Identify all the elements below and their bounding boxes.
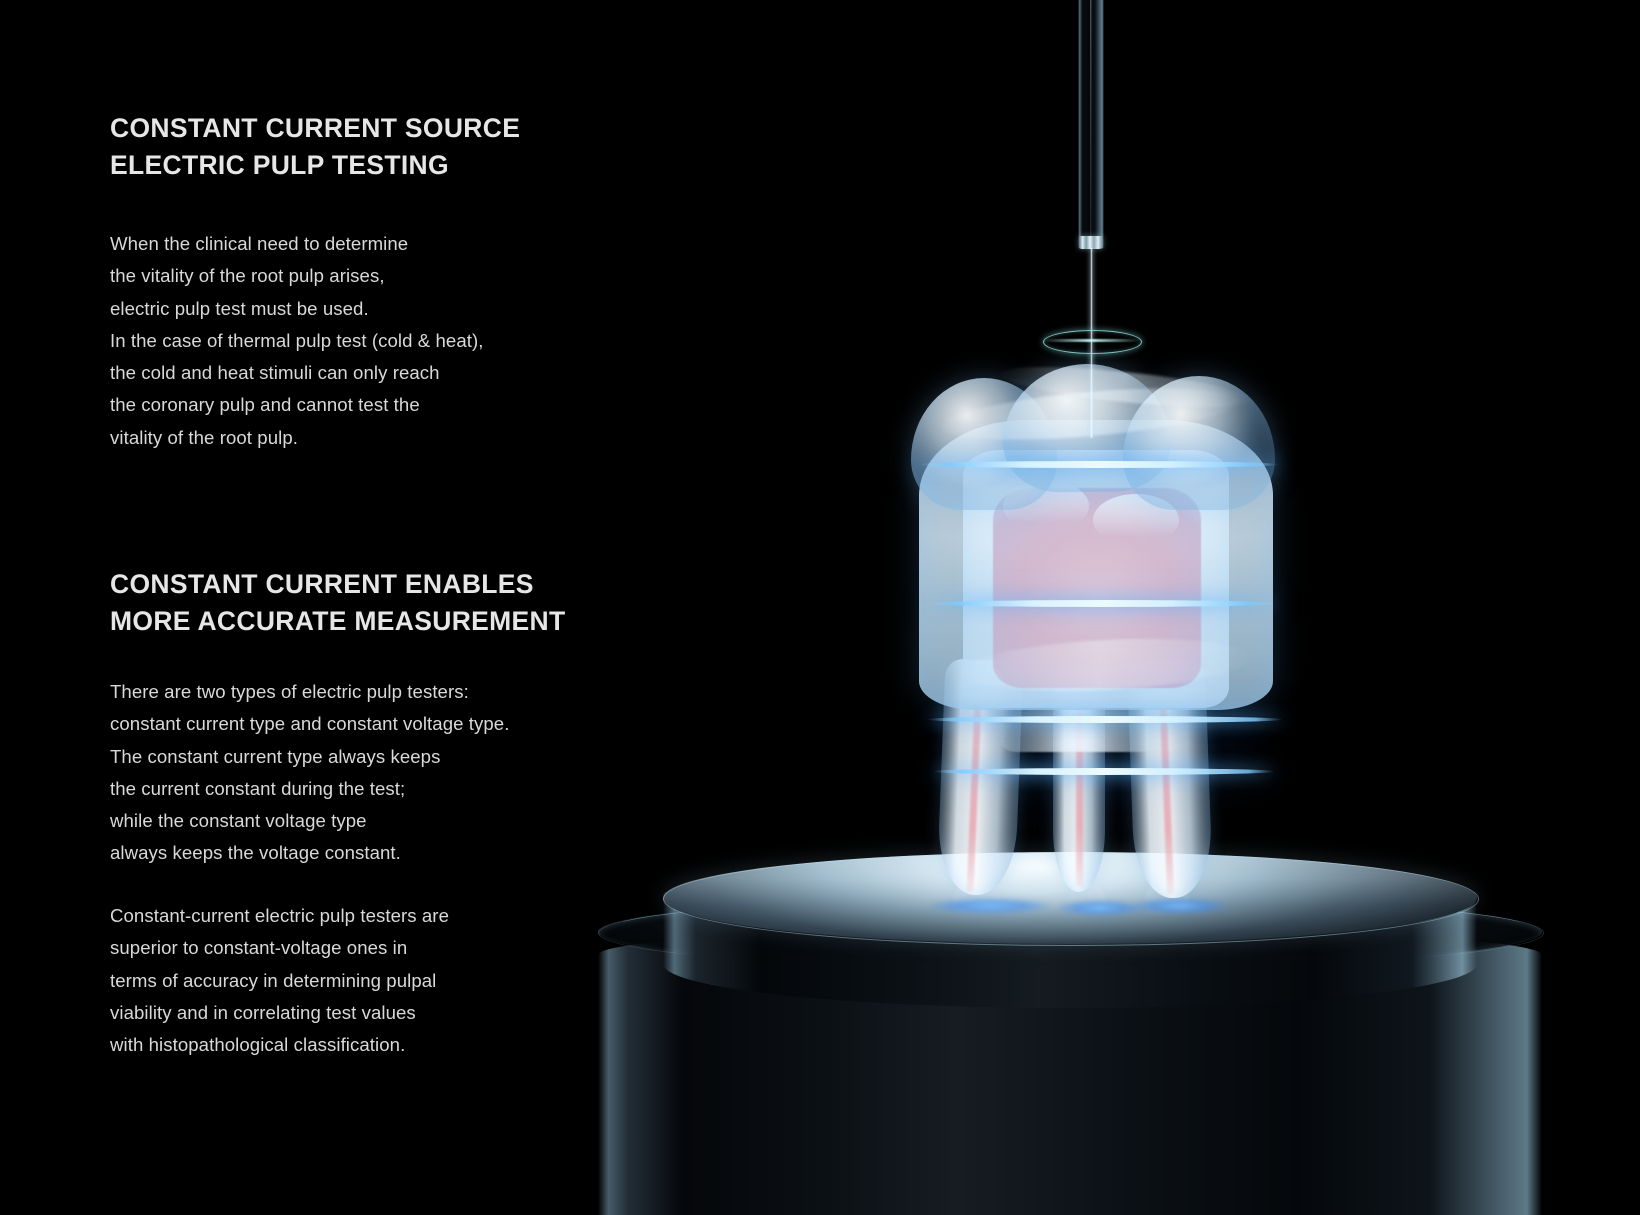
scan-line-icon [918, 461, 1280, 468]
section-2-heading: CONSTANT CURRENT ENABLES MORE ACCURATE M… [110, 566, 730, 639]
section-1-heading: CONSTANT CURRENT SOURCE ELECTRIC PULP TE… [110, 110, 730, 183]
teal-ring-icon [1043, 330, 1142, 354]
contact-glow [930, 898, 1050, 914]
section-1-paragraph-1: When the clinical need to determine the … [110, 228, 730, 454]
section-2-paragraph-1: There are two types of electric pulp tes… [110, 676, 730, 870]
probe-handle-icon [1078, 0, 1104, 248]
text-column: CONSTANT CURRENT SOURCE ELECTRIC PULP TE… [110, 0, 730, 1215]
molar-tooth-icon [905, 360, 1287, 895]
scan-line-icon [928, 600, 1276, 607]
contact-glow [1132, 898, 1228, 914]
section-2-paragraph-2: Constant-current electric pulp testers a… [110, 900, 730, 1061]
scan-line-icon [926, 716, 1284, 723]
scan-line-icon [932, 768, 1276, 775]
teal-ring-highlight [1043, 339, 1140, 342]
contact-glow [1058, 900, 1142, 916]
